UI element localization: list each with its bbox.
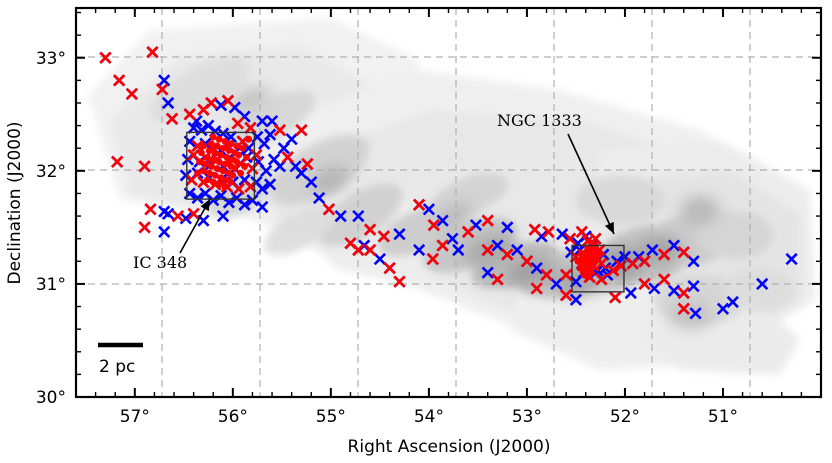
dot-marker: [206, 170, 213, 177]
x-tick-label: 56°: [218, 407, 248, 427]
dot-marker: [241, 163, 248, 170]
dot-marker: [220, 167, 227, 174]
dot-marker: [578, 251, 585, 258]
scale-bar-label: 2 pc: [99, 357, 135, 377]
dot-marker: [198, 149, 205, 156]
dot-marker: [212, 172, 219, 179]
dot-marker: [245, 136, 252, 143]
dot-marker: [227, 140, 234, 147]
dot-marker: [214, 165, 221, 172]
dot-marker: [224, 154, 231, 161]
dot-marker: [222, 183, 229, 190]
dot-marker: [216, 158, 223, 165]
dot-marker: [226, 147, 233, 154]
dot-marker: [243, 154, 250, 161]
x-tick-label: 54°: [414, 407, 444, 427]
dot-marker: [204, 154, 211, 161]
dot-marker: [210, 134, 217, 141]
y-axis-label: Declination (J2000): [5, 121, 25, 284]
dot-marker: [204, 176, 211, 183]
x-axis-label: Right Ascension (J2000): [348, 437, 551, 457]
y-tick-label: 32°: [36, 162, 66, 182]
dot-marker: [194, 170, 201, 177]
dot-marker: [233, 143, 240, 150]
x-tick-label: 53°: [512, 407, 542, 427]
dot-marker: [576, 265, 583, 272]
figure-canvas: IC 348 NGC 1333 2 pc 57°56°55°54°53°52°5…: [0, 0, 832, 463]
x-tick-label: 52°: [610, 407, 640, 427]
dot-marker: [208, 140, 215, 147]
dot-marker: [237, 170, 244, 177]
dot-marker: [214, 143, 221, 150]
dot-marker: [202, 161, 209, 168]
dot-marker: [196, 158, 203, 165]
dot-marker: [239, 145, 246, 152]
dot-marker: [206, 147, 213, 154]
x-tick-label: 55°: [316, 407, 346, 427]
dot-marker: [210, 179, 217, 186]
dot-marker: [216, 136, 223, 143]
dot-marker: [218, 152, 225, 159]
y-tick-label: 31°: [36, 275, 66, 295]
dot-marker: [574, 258, 581, 265]
dot-marker: [220, 145, 227, 152]
dot-marker: [231, 165, 238, 172]
dot-marker: [210, 156, 217, 163]
dot-marker: [218, 174, 225, 181]
dot-marker: [208, 163, 215, 170]
dot-marker: [233, 158, 240, 165]
dot-marker: [222, 161, 229, 168]
dot-marker: [229, 172, 236, 179]
y-tick-label: 33°: [36, 49, 66, 69]
dot-marker: [222, 138, 229, 145]
scatter-plot-svg: IC 348 NGC 1333 2 pc 57°56°55°54°53°52°5…: [0, 0, 832, 463]
x-tick-label: 57°: [120, 407, 150, 427]
dot-marker: [212, 149, 219, 156]
dot-marker: [235, 152, 242, 159]
dot-marker: [596, 251, 603, 258]
ic348-label: IC 348: [133, 253, 187, 272]
dot-marker: [216, 181, 223, 188]
ngc1333-label: NGC 1333: [497, 111, 582, 130]
dot-marker: [200, 167, 207, 174]
dot-marker: [584, 274, 591, 281]
y-tick-label: 30°: [36, 388, 66, 408]
x-tick-label: 51°: [708, 407, 738, 427]
dot-marker: [200, 143, 207, 150]
dot-marker: [227, 179, 234, 186]
